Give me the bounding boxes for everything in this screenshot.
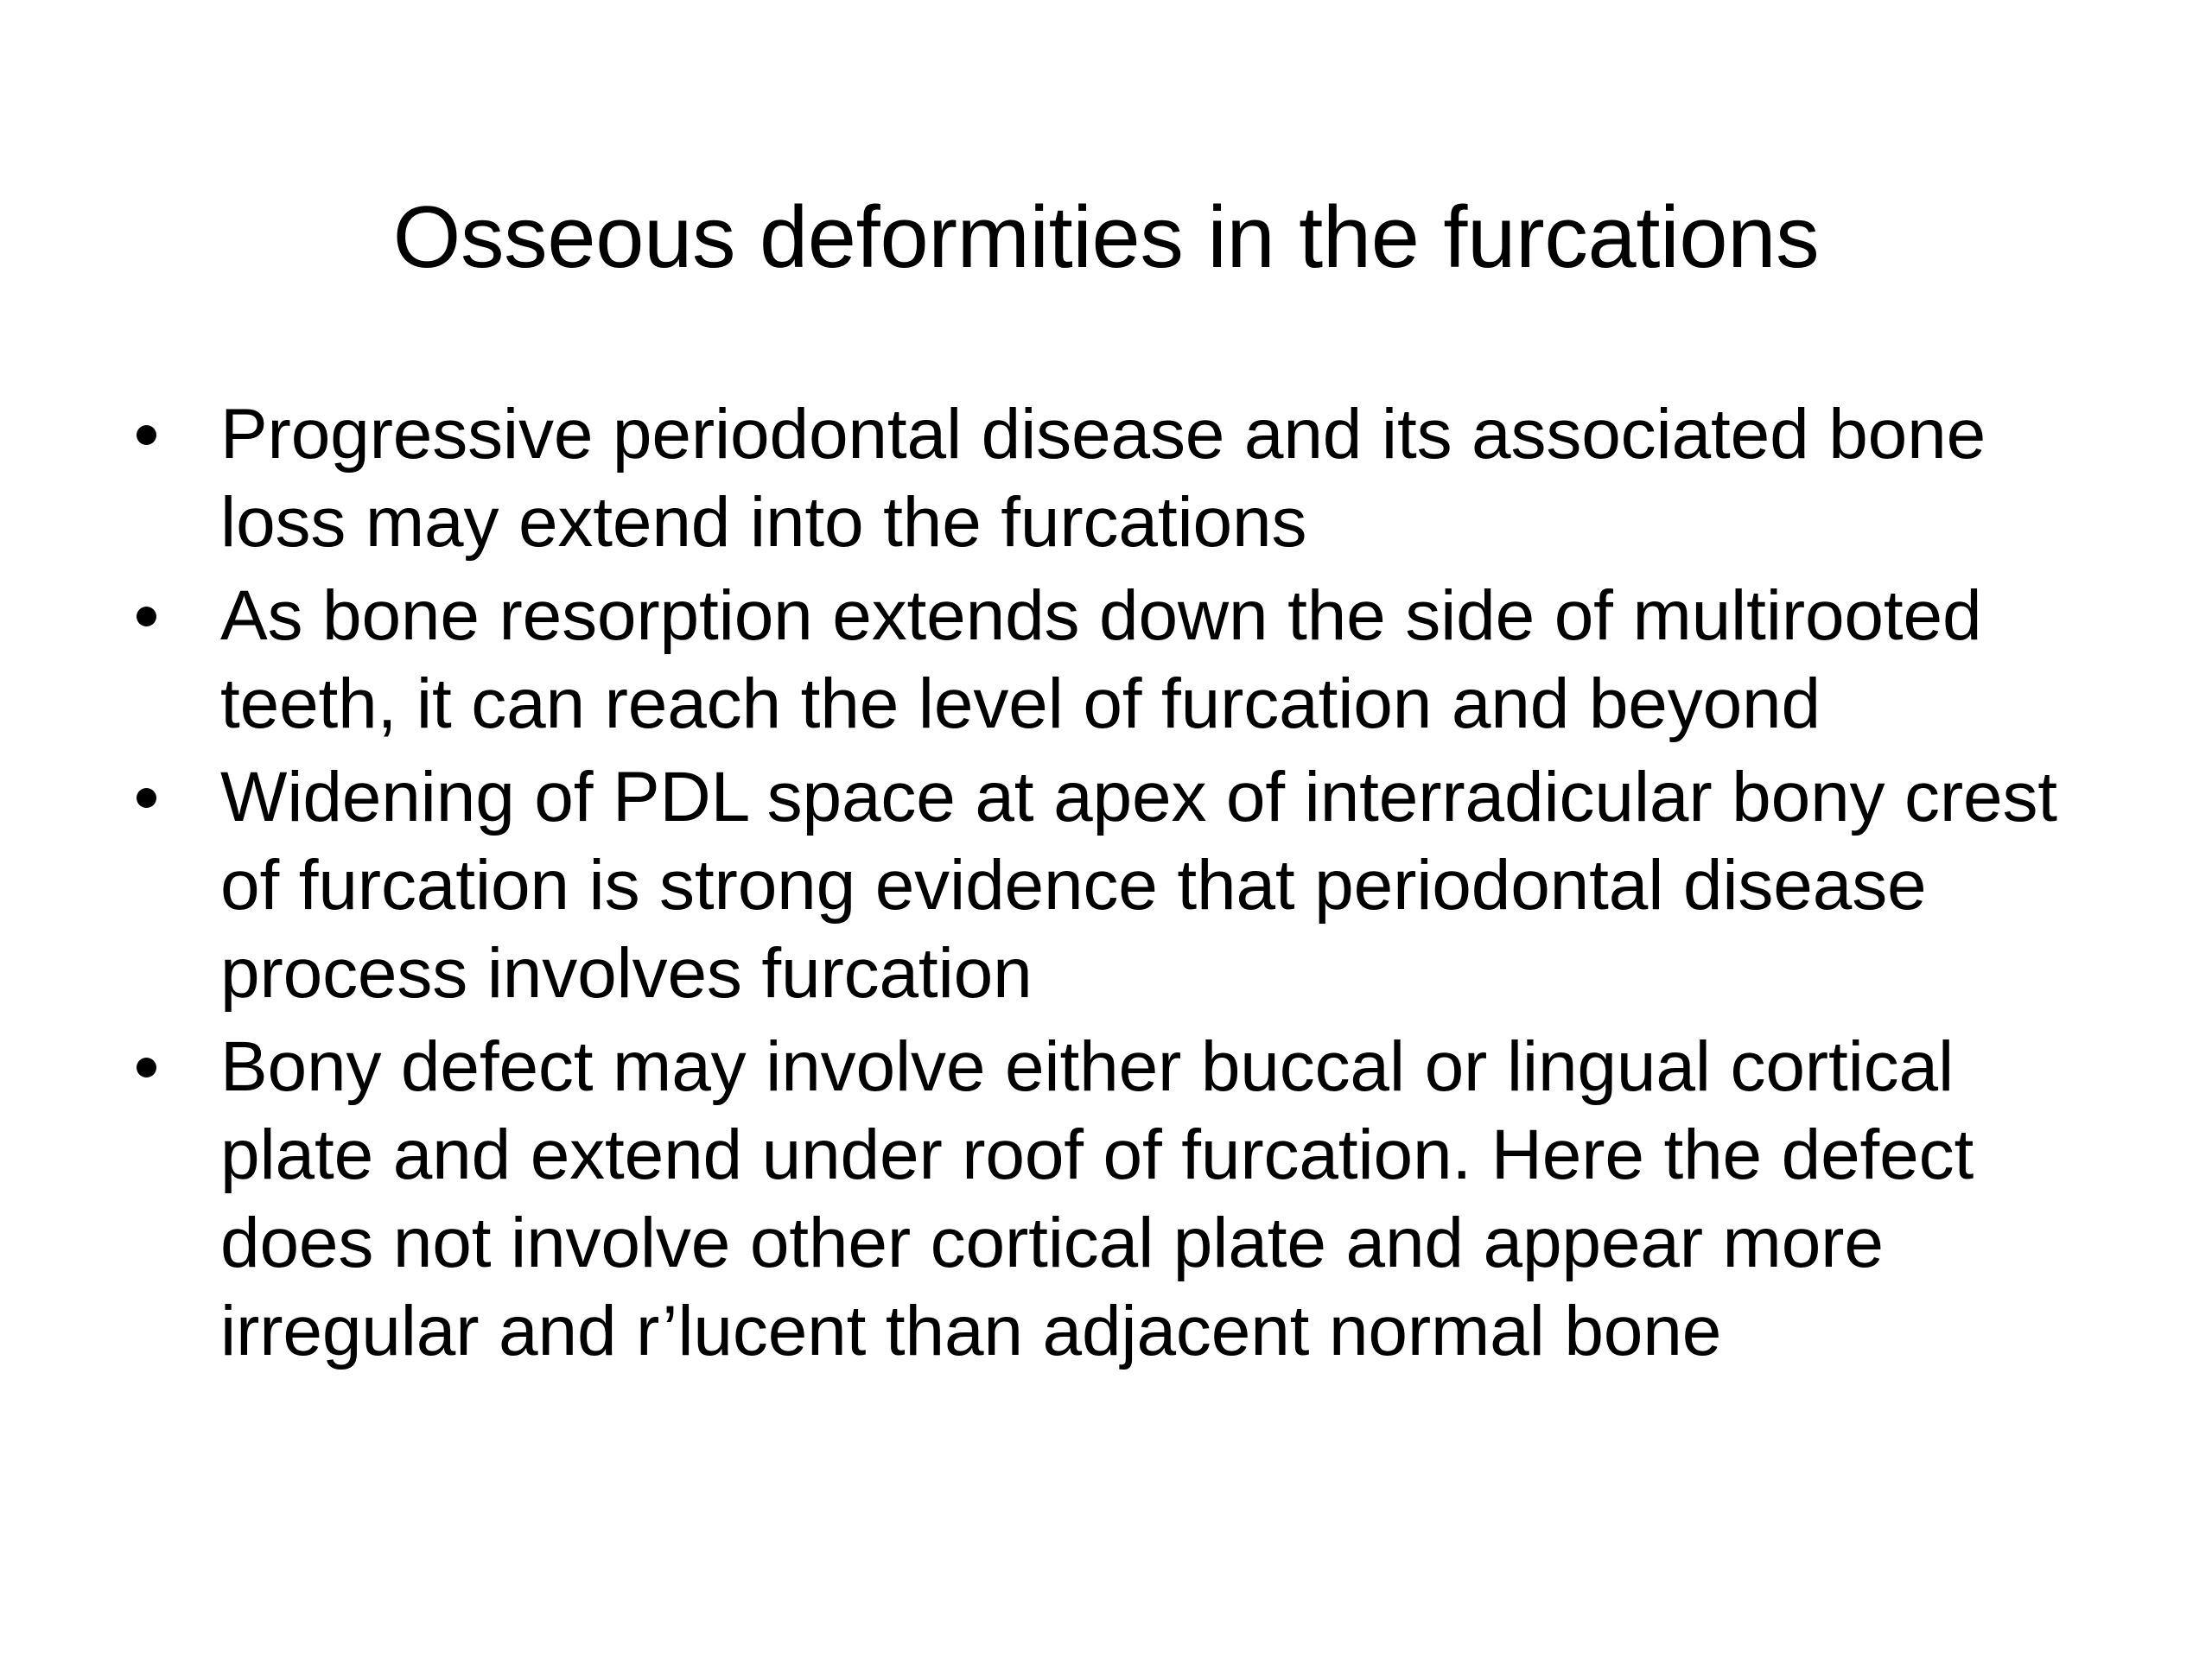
list-item-text: Progressive periodontal disease and its … <box>220 391 2108 567</box>
presentation-slide: Osseous deformities in the furcations Pr… <box>0 0 2212 1659</box>
list-item: As bone resorption extends down the side… <box>130 572 2108 748</box>
list-item: Bony defect may involve either buccal or… <box>130 1023 2108 1376</box>
page-title: Osseous deformities in the furcations <box>173 187 2039 289</box>
list-item-text: Bony defect may involve either buccal or… <box>220 1023 2108 1376</box>
bullet-dot-icon <box>137 425 156 445</box>
bullet-dot-icon <box>137 1058 156 1077</box>
list-item: Progressive periodontal disease and its … <box>130 391 2108 567</box>
bullet-dot-icon <box>137 788 156 808</box>
bullet-dot-icon <box>137 607 156 626</box>
list-item: Widening of PDL space at apex of interra… <box>130 753 2108 1018</box>
list-item-text: Widening of PDL space at apex of interra… <box>220 753 2108 1018</box>
bullet-list: Progressive periodontal disease and its … <box>130 391 2108 1376</box>
list-item-text: As bone resorption extends down the side… <box>220 572 2108 748</box>
